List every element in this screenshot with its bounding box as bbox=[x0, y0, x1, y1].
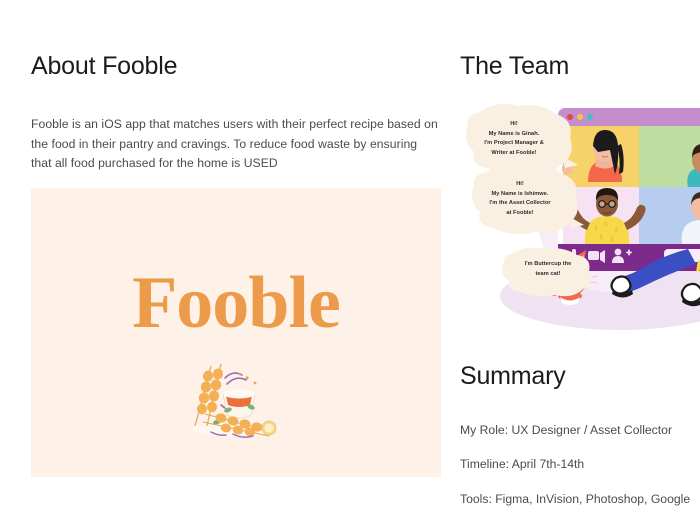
summary-section: Summary My Role: UX Designer / Asset Col… bbox=[460, 362, 700, 509]
team-title: The Team bbox=[460, 52, 700, 81]
logo-panel: Fooble bbox=[31, 188, 441, 477]
summary-line-tools: Tools: Figma, InVision, Photoshop, Googl… bbox=[460, 491, 700, 509]
food-skewers-bowl-illustration bbox=[181, 348, 291, 440]
team-section: The Team bbox=[460, 52, 700, 81]
page-title: About Fooble bbox=[31, 52, 441, 81]
speech-bubble-2 bbox=[472, 164, 584, 234]
summary-list: My Role: UX Designer / Asset Collector T… bbox=[460, 422, 700, 509]
speech-bubbles: Hi! My Name is Ginah. I'm Project Manage… bbox=[458, 100, 700, 300]
about-paragraph: Fooble is an iOS app that matches users … bbox=[31, 115, 439, 174]
speech-bubble-3 bbox=[502, 248, 591, 297]
summary-line-role: My Role: UX Designer / Asset Collector bbox=[460, 422, 700, 440]
summary-line-timeline: Timeline: April 7th-14th bbox=[460, 456, 700, 474]
fooble-wordmark: Fooble bbox=[31, 266, 441, 340]
slide-canvas: About Fooble Fooble is an iOS app that m… bbox=[0, 0, 700, 525]
speech-bubble-1 bbox=[466, 104, 578, 174]
about-section: About Fooble Fooble is an iOS app that m… bbox=[31, 52, 441, 174]
summary-title: Summary bbox=[460, 362, 700, 391]
